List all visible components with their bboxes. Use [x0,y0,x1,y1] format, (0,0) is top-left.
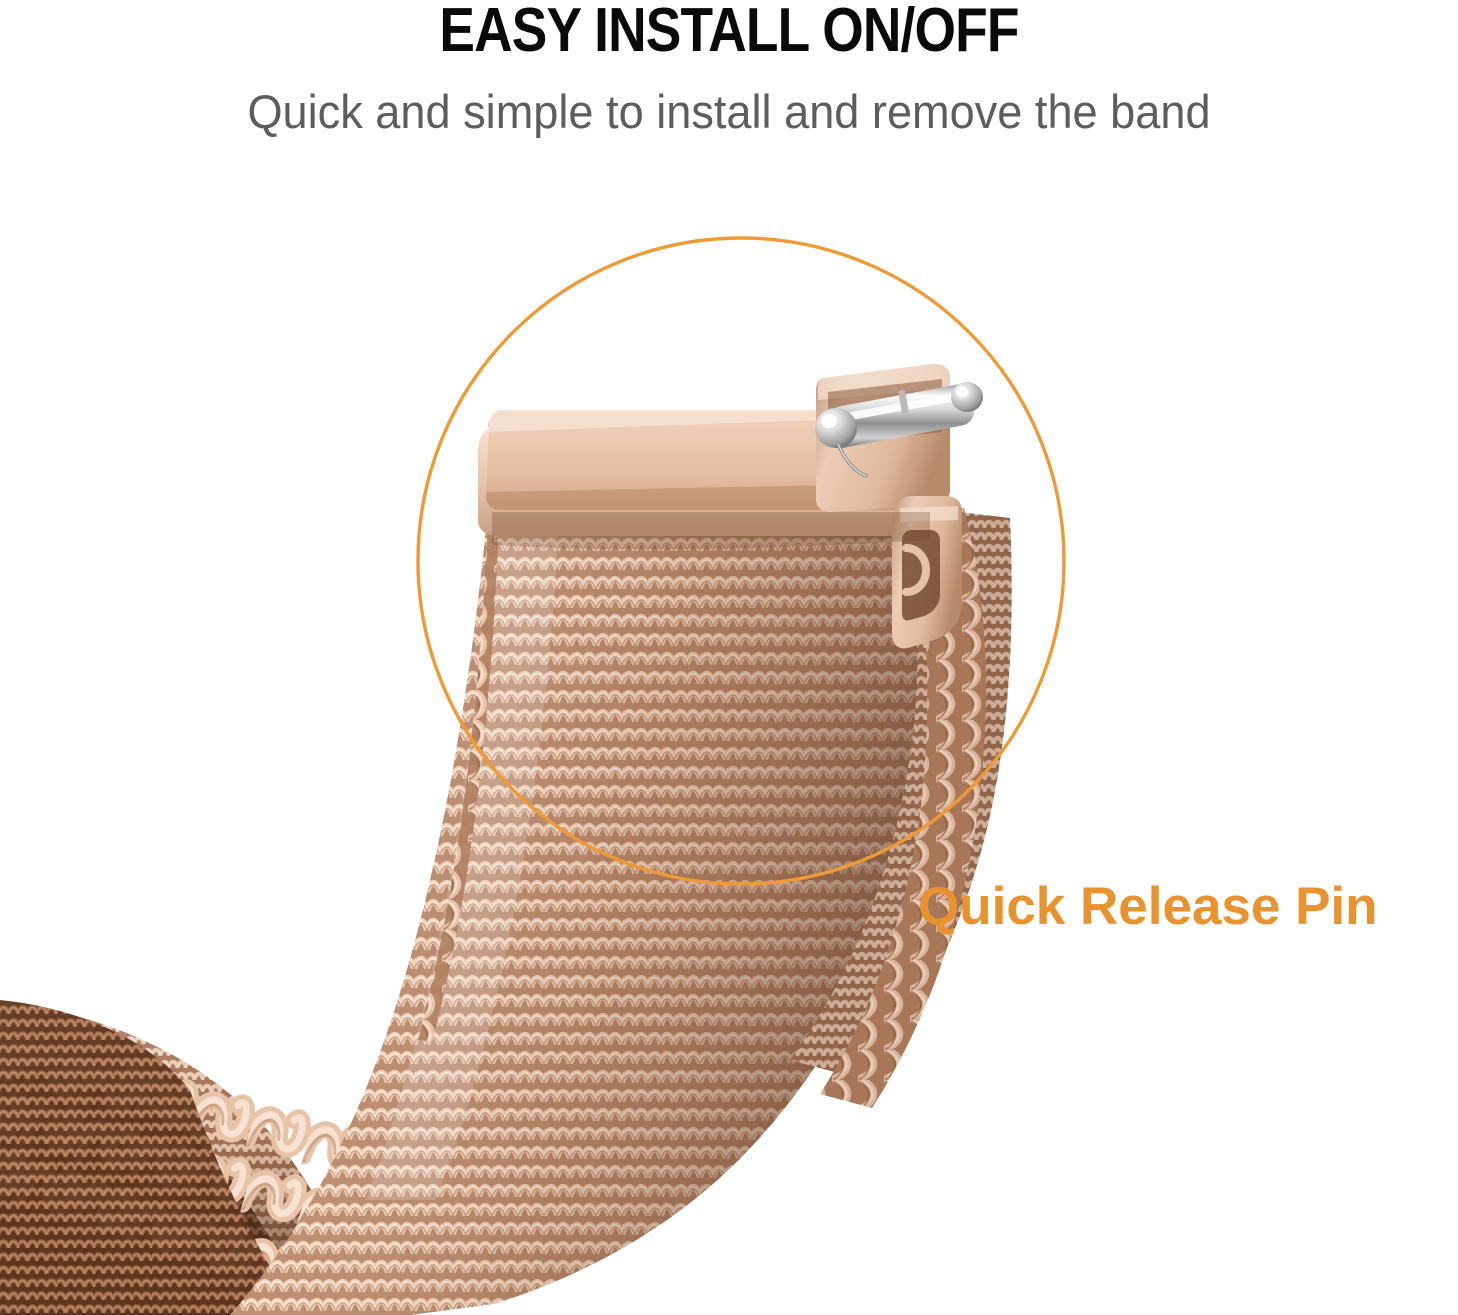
mesh-strap-body [230,498,930,1315]
page-title: EASY INSTALL ON/OFF [102,0,1356,62]
product-feature-image: EASY INSTALL ON/OFF Quick and simple to … [0,0,1458,1315]
quick-release-pin-label: Quick Release Pin [918,878,1378,936]
page-subtitle: Quick and simple to install and remove t… [29,86,1429,138]
product-illustration [0,0,1458,1315]
